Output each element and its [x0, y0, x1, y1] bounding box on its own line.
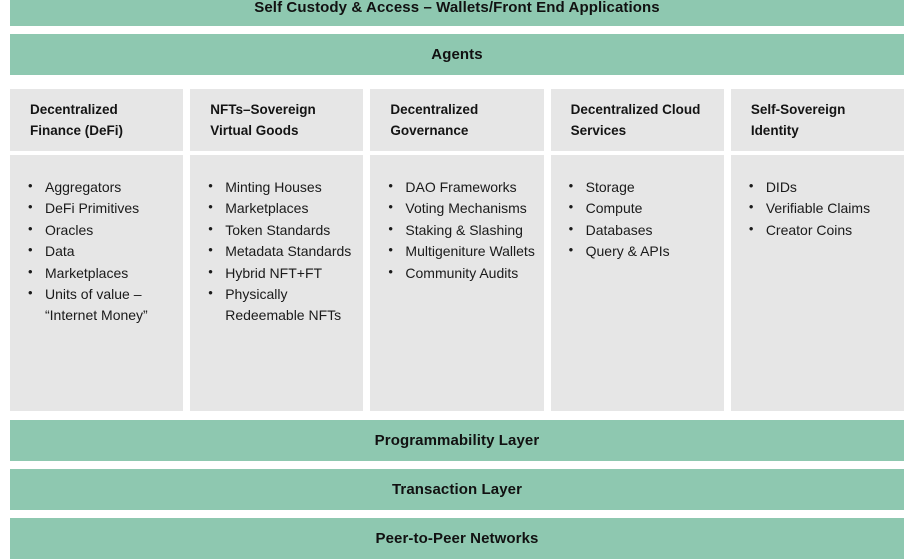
list-item: Aggregators: [45, 177, 175, 198]
column-header: Decentralized Cloud Services: [551, 89, 724, 151]
column-self-sovereign-identity: Self-Sovereign Identity DIDs Verifiable …: [731, 89, 904, 411]
column-decentralized-finance: Decentralized Finance (DeFi) Aggregators…: [10, 89, 183, 411]
list-item: Creator Coins: [766, 220, 896, 241]
list-item: DIDs: [766, 177, 896, 198]
list-item: Minting Houses: [225, 177, 355, 198]
list-item: Oracles: [45, 220, 175, 241]
column-decentralized-cloud-services: Decentralized Cloud Services Storage Com…: [551, 89, 724, 411]
layer-band-label: Programmability Layer: [375, 432, 540, 449]
column-nfts-sovereign-virtual-goods: NFTs–Sovereign Virtual Goods Minting Hou…: [190, 89, 363, 411]
list-item: Metadata Standards: [225, 241, 355, 262]
list-item: Community Audits: [405, 263, 535, 284]
column-item-list: DIDs Verifiable Claims Creator Coins: [731, 177, 896, 241]
column-body: Storage Compute Databases Query & APIs: [551, 155, 724, 411]
list-item: Token Standards: [225, 220, 355, 241]
column-body: DIDs Verifiable Claims Creator Coins: [731, 155, 904, 411]
column-body: Aggregators DeFi Primitives Oracles Data…: [10, 155, 183, 411]
list-item: Verifiable Claims: [766, 198, 896, 219]
list-item: Physically Redeemable NFTs: [225, 284, 355, 327]
layer-band-transaction: Transaction Layer: [10, 469, 904, 510]
list-item: DAO Frameworks: [405, 177, 535, 198]
web3-stack-diagram: Self Custody & Access – Wallets/Front En…: [0, 0, 914, 549]
list-item: Hybrid NFT+FT: [225, 263, 355, 284]
list-item: Marketplaces: [45, 263, 175, 284]
list-item: Units of value – “Internet Money”: [45, 284, 175, 327]
layer-band-programmability: Programmability Layer: [10, 420, 904, 461]
column-item-list: Storage Compute Databases Query & APIs: [551, 177, 716, 263]
column-header-label: NFTs–Sovereign Virtual Goods: [210, 100, 351, 142]
layer-band-label: Agents: [431, 46, 482, 63]
layer-band-label: Peer-to-Peer Networks: [376, 530, 539, 547]
list-item: Data: [45, 241, 175, 262]
column-header-label: Decentralized Cloud Services: [571, 100, 712, 142]
layer-band-peer-to-peer: Peer-to-Peer Networks: [10, 518, 904, 559]
layer-band-label: Transaction Layer: [392, 481, 522, 498]
layer-band-label: Self Custody & Access – Wallets/Front En…: [254, 0, 659, 16]
list-item: Query & APIs: [586, 241, 716, 262]
column-header-label: Decentralized Finance (DeFi): [30, 100, 171, 142]
column-decentralized-governance: Decentralized Governance DAO Frameworks …: [370, 89, 543, 411]
column-header: Decentralized Finance (DeFi): [10, 89, 183, 151]
column-body: DAO Frameworks Voting Mechanisms Staking…: [370, 155, 543, 411]
list-item: Marketplaces: [225, 198, 355, 219]
column-body: Minting Houses Marketplaces Token Standa…: [190, 155, 363, 411]
column-item-list: Minting Houses Marketplaces Token Standa…: [190, 177, 355, 327]
column-header: Self-Sovereign Identity: [731, 89, 904, 151]
layer-band-agents: Agents: [10, 34, 904, 75]
application-columns: Decentralized Finance (DeFi) Aggregators…: [10, 89, 904, 411]
list-item: Multigeniture Wallets: [405, 241, 535, 262]
column-header-label: Self-Sovereign Identity: [751, 100, 892, 142]
list-item: Staking & Slashing: [405, 220, 535, 241]
list-item: DeFi Primitives: [45, 198, 175, 219]
layer-band-self-custody: Self Custody & Access – Wallets/Front En…: [10, 0, 904, 26]
column-header-label: Decentralized Governance: [390, 100, 531, 142]
list-item: Voting Mechanisms: [405, 198, 535, 219]
list-item: Databases: [586, 220, 716, 241]
column-item-list: Aggregators DeFi Primitives Oracles Data…: [10, 177, 175, 327]
column-item-list: DAO Frameworks Voting Mechanisms Staking…: [370, 177, 535, 284]
list-item: Compute: [586, 198, 716, 219]
list-item: Storage: [586, 177, 716, 198]
column-header: NFTs–Sovereign Virtual Goods: [190, 89, 363, 151]
column-header: Decentralized Governance: [370, 89, 543, 151]
